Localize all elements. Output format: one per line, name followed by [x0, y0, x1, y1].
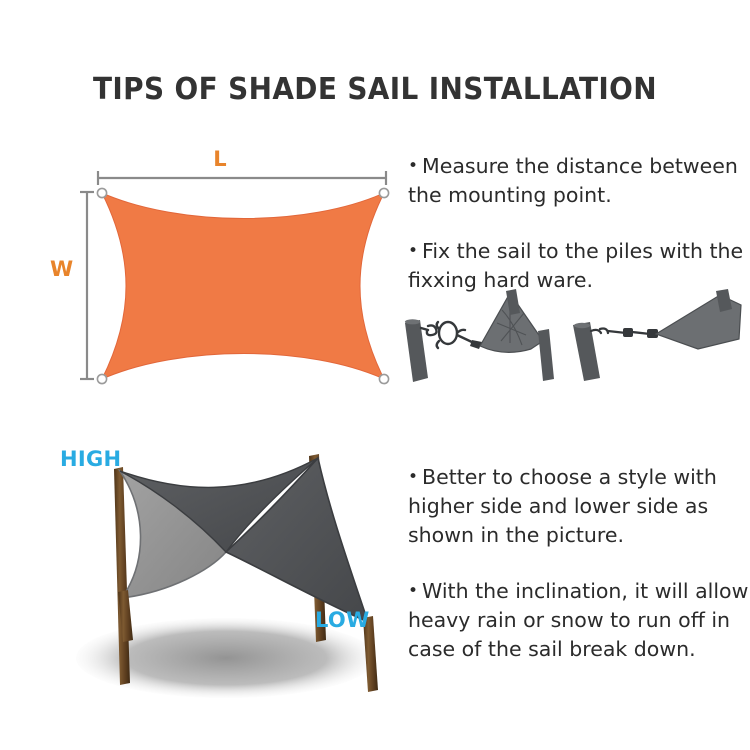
hardware-item-turnbuckle: [405, 289, 554, 382]
canopy-svg: [30, 440, 420, 710]
rectangular-sail-diagram: L W: [40, 145, 400, 395]
tip-line-text: higher side and lower side as: [408, 492, 750, 521]
tip-line: •With the inclination, it will allow: [408, 577, 750, 606]
length-dimension-line: [98, 171, 386, 185]
hardware-svg: [398, 283, 750, 383]
bullet-icon: •: [408, 156, 418, 176]
tip-paragraph: •Better to choose a style with higher si…: [408, 463, 750, 550]
width-dimension-line: [80, 192, 94, 379]
length-dimension-label: L: [40, 147, 400, 171]
shade-sail-dark: [226, 458, 368, 622]
low-corner-label: LOW: [315, 608, 370, 632]
tip-line-text: shown in the picture.: [408, 521, 750, 550]
tips-lower-text: •Better to choose a style with higher si…: [408, 463, 750, 664]
tip-line-text: the mounting point.: [408, 181, 750, 210]
tip-paragraph: •Measure the distance between the mounti…: [408, 152, 750, 210]
tip-line-text: heavy rain or snow to run off in: [408, 606, 750, 635]
turnbuckle-icon: [623, 328, 633, 337]
hardware-illustrations: [398, 283, 750, 383]
hardware-item-chain: [573, 289, 741, 381]
tip-line-text: case of the sail break down.: [408, 635, 750, 664]
bullet-icon: •: [408, 467, 418, 487]
tip-line-text: Better to choose a style with: [422, 465, 717, 489]
bullet-icon: •: [408, 581, 418, 601]
tip-line-text: Measure the distance between: [422, 154, 738, 178]
high-corner-label: HIGH: [60, 447, 121, 471]
turnbuckle-icon: [421, 322, 474, 348]
tips-upper-text: •Measure the distance between the mounti…: [408, 152, 750, 295]
tip-line: •Better to choose a style with: [408, 463, 750, 492]
tip-line-text: Fix the sail to the piles with the: [422, 239, 743, 263]
chain-icon: [591, 329, 650, 335]
post-icon: [538, 329, 554, 381]
page-title: TIPS OF SHADE SAIL INSTALLATION: [26, 72, 724, 107]
sail-body: [102, 193, 384, 379]
rectangular-sail-svg: [40, 145, 400, 395]
bullet-icon: •: [408, 241, 418, 261]
canopy-diagram: HIGH LOW: [30, 440, 420, 710]
width-dimension-label: W: [50, 257, 73, 281]
tip-line: •Fix the sail to the piles with the: [408, 237, 750, 266]
tip-paragraph: •With the inclination, it will allow hea…: [408, 577, 750, 664]
tip-line: •Measure the distance between: [408, 152, 750, 181]
tip-line-text: With the inclination, it will allow: [422, 579, 748, 603]
